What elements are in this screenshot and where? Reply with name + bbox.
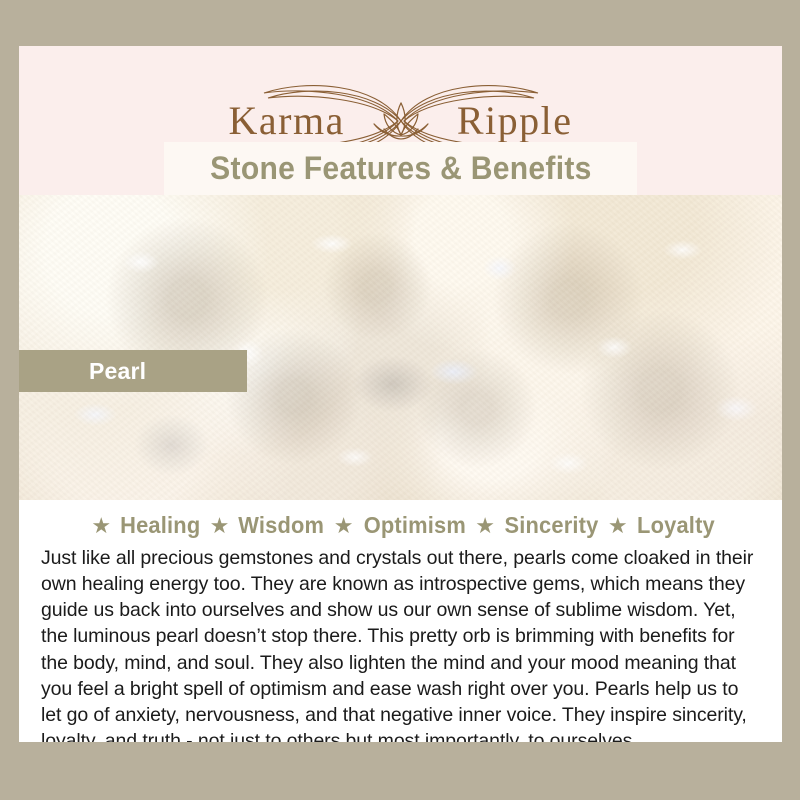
keyword-label: Healing [120, 512, 200, 539]
lotus-icon [370, 98, 432, 144]
stone-photo [19, 195, 782, 500]
keyword-healing: ★ Healing [84, 512, 202, 539]
star-icon: ★ [210, 515, 230, 537]
keyword-wisdom: ★ Wisdom [203, 512, 327, 539]
frame-wedge-bottom-left [0, 742, 800, 800]
stone-name: Pearl [89, 358, 146, 385]
star-icon: ★ [475, 515, 495, 537]
stone-name-banner: Pearl [19, 350, 247, 392]
star-icon: ★ [608, 515, 628, 537]
keyword-label: Optimism [363, 512, 465, 539]
stone-description: Just like all precious gemstones and cry… [19, 543, 782, 742]
star-icon: ★ [91, 515, 111, 537]
keyword-label: Loyalty [637, 512, 715, 539]
star-icon: ★ [334, 515, 354, 537]
frame-rail-left [0, 0, 19, 800]
page-title: Stone Features & Benefits [210, 150, 591, 187]
pearl-stone-infographic: Karma Ripple Stone Features & Ben [0, 0, 800, 800]
description-panel: ★ Healing ★ Wisdom ★ Optimism ★ Sincerit… [19, 500, 782, 742]
content-card: Karma Ripple Stone Features & Ben [19, 46, 782, 742]
keyword-label: Sincerity [504, 512, 598, 539]
section-title-banner: Stone Features & Benefits [164, 142, 637, 195]
frame-rail-right [782, 0, 800, 800]
keyword-label: Wisdom [239, 512, 325, 539]
keyword-sincerity: ★ Sincerity [468, 512, 601, 539]
keyword-optimism: ★ Optimism [327, 512, 468, 539]
keyword-list: ★ Healing ★ Wisdom ★ Optimism ★ Sincerit… [19, 500, 782, 543]
keyword-loyalty: ★ Loyalty [601, 512, 717, 539]
photo-grain-layer [19, 195, 782, 500]
frame-wedge-top-right [0, 0, 800, 46]
